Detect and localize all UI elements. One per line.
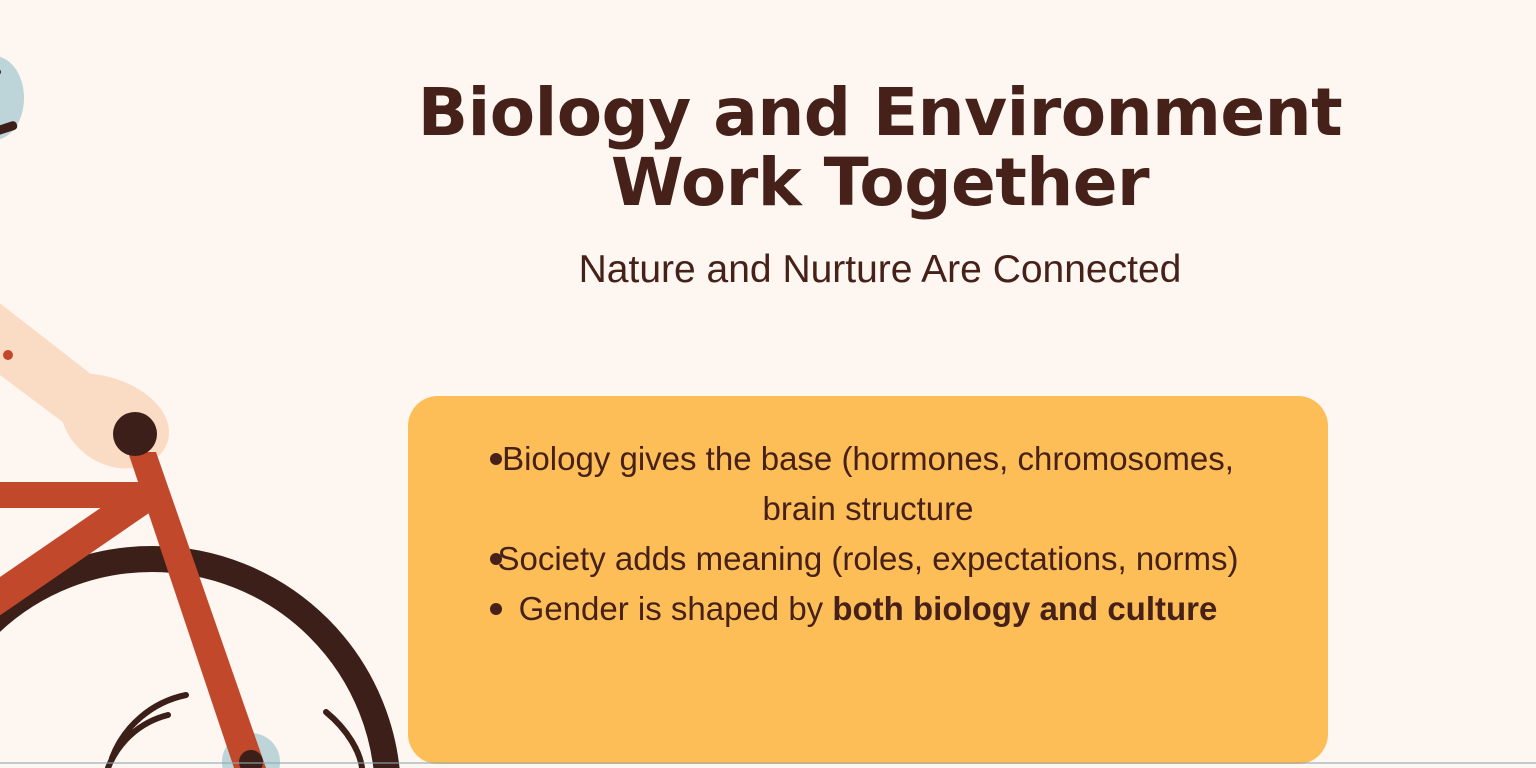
ground-line [0,762,1536,764]
list-item: Biology gives the base (hormones, chromo… [428,434,1308,534]
bicycle-frame [0,452,266,768]
arm-shape [0,268,169,468]
cyclist-illustration [0,0,430,768]
list-item: Society adds meaning (roles, expectation… [428,534,1308,584]
handlebar-grip [113,412,157,456]
title-line-2: Work Together [611,144,1149,221]
bullet-dot-icon [490,453,502,465]
bullet-dot-icon [490,603,502,615]
list-item-text: Gender is shaped by [519,590,833,627]
bullet-dot-icon [490,553,502,565]
list-item: Gender is shaped by both biology and cul… [428,584,1308,634]
helmet-icon [0,56,24,145]
bullet-card: Biology gives the base (hormones, chromo… [408,396,1328,764]
title-line-1: Biology and Environment [418,74,1342,151]
hub-center [239,750,263,768]
bicycle-wheel [0,559,388,768]
slide-canvas: Biology and Environment Work Together Na… [0,0,1536,768]
list-item-text: Society adds meaning (roles, expectation… [497,540,1238,577]
bullet-list: Biology gives the base (hormones, chromo… [428,434,1308,634]
slide-content: Biology and Environment Work Together Na… [380,0,1380,768]
page-title: Biology and Environment Work Together [380,78,1380,217]
list-item-emphasis: both biology and culture [832,590,1217,627]
list-item-text: Biology gives the base (hormones, chromo… [502,440,1234,527]
page-subtitle: Nature and Nurture Are Connected [380,248,1380,293]
